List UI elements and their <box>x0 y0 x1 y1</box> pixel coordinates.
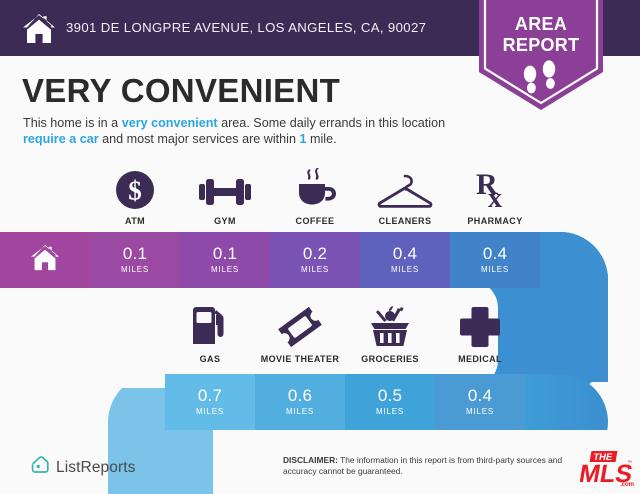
distance-cell-pharmacy: 0.4 MILES <box>450 232 540 288</box>
row2-distance-bar: 0.7 MILES 0.6 MILES 0.5 MILES 0.4 MILES <box>165 374 525 430</box>
distance-value: 0.4 <box>483 245 507 263</box>
distance-cell-atm: 0.1 MILES <box>90 232 180 288</box>
gas-pump-icon <box>190 306 230 348</box>
disclaimer: DISCLAIMER: The information in this repo… <box>283 455 583 477</box>
subtitle-highlight-3: 1 <box>299 132 306 146</box>
page-title: VERY CONVENIENT <box>22 72 340 110</box>
category-label: GAS <box>200 354 221 364</box>
svg-text:.com: .com <box>620 482 634 488</box>
distance-unit: MILES <box>286 407 314 417</box>
svg-text:$: $ <box>128 176 142 206</box>
area-report-badge: AREA REPORT <box>479 0 603 110</box>
area-report-page: 3901 DE LONGPRE AVENUE, LOS ANGELES, CA,… <box>0 0 640 494</box>
category-groceries: GROCERIES <box>345 306 435 364</box>
distance-value: 0.1 <box>213 245 237 263</box>
category-label: GYM <box>214 216 236 226</box>
distance-cell-gas: 0.7 MILES <box>165 374 255 430</box>
badge-label: AREA REPORT <box>479 14 603 56</box>
listreports-logo[interactable]: ListReports <box>30 455 136 480</box>
hanger-icon <box>377 168 433 210</box>
category-label: GROCERIES <box>361 354 419 364</box>
disclaimer-label: DISCLAIMER: <box>283 455 338 465</box>
listreports-house-tag-icon <box>30 455 50 480</box>
subtitle-part-1: This home is in a <box>23 116 122 130</box>
distance-value: 0.6 <box>288 387 312 405</box>
home-icon <box>30 244 60 276</box>
distance-value: 0.4 <box>393 245 417 263</box>
distance-value: 0.4 <box>468 387 492 405</box>
subtitle-highlight-2: require a car <box>23 132 99 146</box>
distance-value: 0.2 <box>303 245 327 263</box>
subtitle-part-3: and most major services are within <box>99 132 300 146</box>
property-address: 3901 DE LONGPRE AVENUE, LOS ANGELES, CA,… <box>66 20 426 35</box>
category-label: ATM <box>125 216 145 226</box>
category-atm: $ ATM <box>90 168 180 226</box>
ribbon-left-tail <box>165 430 213 494</box>
category-gas: GAS <box>165 306 255 364</box>
subtitle-part-4: mile. <box>307 132 337 146</box>
distance-value: 0.5 <box>378 387 402 405</box>
listreports-logo-text: ListReports <box>56 459 136 477</box>
distance-cell-coffee: 0.2 MILES <box>270 232 360 288</box>
category-label: MOVIE THEATER <box>261 354 340 364</box>
category-gym: GYM <box>180 168 270 226</box>
rx-icon: R x <box>473 168 517 210</box>
distance-unit: MILES <box>301 265 329 275</box>
category-label: PHARMACY <box>467 216 522 226</box>
category-coffee: COFFEE <box>270 168 360 226</box>
home-icon <box>22 13 56 44</box>
distance-unit: MILES <box>376 407 404 417</box>
category-medical: MEDICAL <box>435 306 525 364</box>
distance-unit: MILES <box>391 265 419 275</box>
category-label: CLEANERS <box>379 216 432 226</box>
distance-unit: MILES <box>466 407 494 417</box>
distance-cell-medical: 0.4 MILES <box>435 374 525 430</box>
page-subtitle: This home is in a very convenient area. … <box>23 116 473 147</box>
category-pharmacy: R x PHARMACY <box>450 168 540 226</box>
distance-unit: MILES <box>211 265 239 275</box>
svg-text:x: x <box>488 183 502 210</box>
subtitle-highlight-1: very convenient <box>122 116 218 130</box>
category-cleaners: CLEANERS <box>360 168 450 226</box>
subtitle-part-2: area. Some daily errands in this locatio… <box>218 116 446 130</box>
svg-text:™: ™ <box>627 460 632 466</box>
category-label: MEDICAL <box>458 354 502 364</box>
dollar-circle-icon: $ <box>115 168 155 210</box>
row1-home-cell <box>0 232 90 288</box>
distance-cell-cleaners: 0.4 MILES <box>360 232 450 288</box>
ribbon-inner-corner <box>213 430 265 482</box>
movie-ticket-icon <box>277 306 323 348</box>
distance-cell-gym: 0.1 MILES <box>180 232 270 288</box>
distance-value: 0.1 <box>123 245 147 263</box>
row1-icons: $ ATM GYM <box>90 168 540 226</box>
badge-line-1: AREA <box>479 14 603 35</box>
distance-unit: MILES <box>481 265 509 275</box>
category-label: COFFEE <box>296 216 335 226</box>
category-movie-theater: MOVIE THEATER <box>255 306 345 364</box>
distance-cell-movie-theater: 0.6 MILES <box>255 374 345 430</box>
medical-cross-icon <box>459 306 501 348</box>
row1-distance-bar: 0.1 MILES 0.1 MILES 0.2 MILES 0.4 MILES … <box>0 232 540 288</box>
distance-value: 0.7 <box>198 387 222 405</box>
distance-unit: MILES <box>121 265 149 275</box>
grocery-basket-icon <box>367 306 413 348</box>
badge-line-2: REPORT <box>479 35 603 56</box>
row2-icons: GAS MOVIE THEATER <box>165 306 525 364</box>
dumbbell-icon <box>199 168 251 210</box>
distance-unit: MILES <box>196 407 224 417</box>
coffee-cup-icon <box>293 168 337 210</box>
the-mls-logo: THE MLS .com ™ <box>580 448 635 490</box>
distance-cell-groceries: 0.5 MILES <box>345 374 435 430</box>
